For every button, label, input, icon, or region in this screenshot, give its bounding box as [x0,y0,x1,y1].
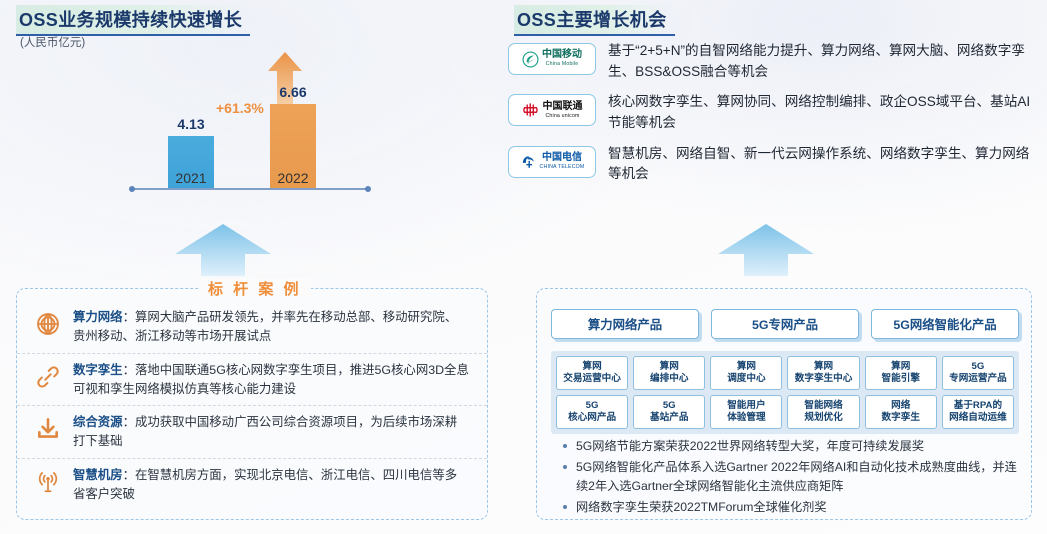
growth-bar-chart: +61.3% 4.13 2021 6.66 2022 [120,46,380,216]
download-icon [33,414,63,444]
product-cell[interactable]: 算网调度中心 [710,356,782,390]
product-cell-line1: 网络 [891,400,910,412]
product-cell-line1: 基于RPA的 [954,400,1002,412]
product-cell[interactable]: 网络数字孪生 [865,395,937,429]
benchmark-cases-panel: 标 杆 案 例 算力网络：算网大脑产品研发领先，并率先在移动总部、移动研究院、贵… [16,288,488,520]
product-category-box[interactable]: 算力网络产品 [551,309,699,339]
product-cell[interactable]: 智能网络规划优化 [787,395,859,429]
china-unicom-logo: 中国联通 China unicom [508,94,596,126]
product-cell-line2: 交易运营中心 [563,373,621,385]
case-term: 智慧机房 [73,468,123,482]
product-cell-line2: 规划优化 [804,412,842,424]
logo-en-text: China Mobile [546,62,579,67]
logo-cn-text: 中国电信 [542,153,582,163]
bar-2022: 6.66 2022 [270,104,316,188]
product-cell-line2: 数字孪生 [882,412,920,424]
china-telecom-logo: 中国电信 CHINA TELECOM [508,146,596,178]
china-telecom-mark-icon [520,153,537,170]
page-title-right: OSS主要增长机会 [514,5,675,36]
product-cell-line1: 算网 [891,361,910,373]
product-cell[interactable]: 算网智能引擎 [865,356,937,390]
logo-cn-text: 中国移动 [542,50,582,60]
up-arrow-right-icon [718,224,814,276]
case-text: 智慧机房：在智慧机房方面，实现北京电信、浙江电信、四川电信等多省客户突破 [73,466,469,504]
bar-value-2021: 4.13 [177,116,204,132]
bar-category-2021: 2021 [175,170,206,186]
product-cell[interactable]: 5G基站产品 [633,395,705,429]
product-category-box[interactable]: 5G网络智能化产品 [871,309,1019,339]
operator-opportunity-text: 智慧机房、网络自智、新一代云网操作系统、网络数字孪生、算力网络等机会 [608,143,1036,185]
list-item[interactable]: 数字孪生：落地中国联通5G核心网数字孪生项目，推进5G核心网3D全息可视和孪生网… [17,353,487,406]
logo-cn-text: 中国联通 [543,102,583,112]
operator-opportunity-list: 中国移动 China Mobile 基于“2+5+N”的自智网络能力提升、算力网… [508,40,1036,194]
product-cell-line2: 数字孪生中心 [795,373,853,385]
product-cell-line2: 调度中心 [727,373,765,385]
china-mobile-logo: 中国移动 China Mobile [508,43,596,75]
product-cell-line2: 智能引擎 [882,373,920,385]
product-cell[interactable]: 5G核心网产品 [556,395,628,429]
bar-value-2022: 6.66 [279,84,306,100]
product-cell-line1: 5G [972,361,985,373]
chart-unit-note: (人民币亿元) [20,34,85,50]
product-cell-line2: 网络自动运维 [949,412,1007,424]
case-text: 算力网络：算网大脑产品研发领先，并率先在移动总部、移动研究院、贵州移动、浙江移动… [73,308,469,346]
case-term: 综合资源 [73,415,123,429]
case-desc: ：算网大脑产品研发领先，并率先在移动总部、移动研究院、贵州移动、浙江移动等市场开… [73,310,457,343]
list-item: 5G网络智能化产品体系入选Gartner 2022年网络AI和自动化技术成熟度曲… [559,458,1019,495]
bar-category-2022: 2022 [277,170,308,186]
product-category-row: 算力网络产品 5G专网产品 5G网络智能化产品 [551,309,1019,339]
antenna-icon [33,467,63,497]
product-cell-line1: 5G [663,400,676,412]
globe-icon [33,309,63,339]
case-term: 算力网络 [73,310,123,324]
bar-2021: 4.13 2021 [168,136,214,188]
list-item[interactable]: 中国电信 CHINA TELECOM 智慧机房、网络自智、新一代云网操作系统、网… [508,143,1036,185]
product-category-box[interactable]: 5G专网产品 [711,309,859,339]
case-desc: ：在智慧机房方面，实现北京电信、浙江电信、四川电信等多省客户突破 [73,468,457,501]
list-item[interactable]: 中国联通 China unicom 核心网数字孪生、算网协同、网络控制编排、政企… [508,91,1036,133]
product-cell-line2: 基站产品 [650,412,688,424]
product-cell-line2: 专网运营产品 [949,373,1007,385]
product-cell[interactable]: 基于RPA的网络自动运维 [942,395,1014,429]
logo-en-text: CHINA TELECOM [540,165,585,170]
product-grid: 算网交易运营中心 算网编排中心 算网调度中心 算网数字孪生中心 算网智能引擎 5… [551,351,1019,434]
product-cell-line1: 5G [586,400,599,412]
innovative-products-panel: 行业领先的创新产品方案 算力网络产品 5G专网产品 5G网络智能化产品 算网交易… [536,288,1032,520]
list-item: 5G网络节能方案荣获2022世界网络转型大奖，年度可持续发展奖 [559,437,1019,455]
case-desc: ：成功获取中国移动广西公司综合资源项目，为后续市场深耕打下基础 [73,415,457,448]
case-term: 数字孪生 [73,363,123,377]
product-cell-line2: 编排中心 [650,373,688,385]
chart-axis-line [132,188,368,190]
benchmark-cases-list: 算力网络：算网大脑产品研发领先，并率先在移动总部、移动研究院、贵州移动、浙江移动… [17,301,487,511]
product-cell-line2: 核心网产品 [568,412,616,424]
page-title-left: OSS业务规模持续快速增长 [16,5,250,36]
list-item[interactable]: 智慧机房：在智慧机房方面，实现北京电信、浙江电信、四川电信等多省客户突破 [17,458,487,511]
product-cell[interactable]: 智能用户体验管理 [710,395,782,429]
case-text: 数字孪生：落地中国联通5G核心网数字孪生项目，推进5G核心网3D全息可视和孪生网… [73,361,469,399]
china-mobile-mark-icon [522,51,539,68]
product-cell-line2: 体验管理 [727,412,765,424]
operator-opportunity-text: 核心网数字孪生、算网协同、网络控制编排、政企OSS域平台、基站AI节能等机会 [608,91,1036,133]
product-cell[interactable]: 算网交易运营中心 [556,356,628,390]
operator-opportunity-text: 基于“2+5+N”的自智网络能力提升、算力网络、算网大脑、网络数字孪生、BSS&… [608,40,1036,82]
product-cell[interactable]: 5G专网运营产品 [942,356,1014,390]
case-text: 综合资源：成功获取中国移动广西公司综合资源项目，为后续市场深耕打下基础 [73,413,469,451]
case-desc: ：落地中国联通5G核心网数字孪生项目，推进5G核心网3D全息可视和孪生网络模拟仿… [73,363,469,396]
product-cell-line1: 算网 [814,361,833,373]
product-cell-line1: 算网 [582,361,601,373]
product-cell-line1: 算网 [660,361,679,373]
link-icon [33,362,63,392]
china-unicom-mark-icon [522,101,540,119]
product-cell-line1: 智能网络 [804,400,842,412]
product-cell[interactable]: 算网编排中心 [633,356,705,390]
product-cell-line1: 算网 [737,361,756,373]
product-cell-line1: 智能用户 [727,400,765,412]
up-arrow-left-icon [175,224,271,276]
product-cell[interactable]: 算网数字孪生中心 [787,356,859,390]
growth-percent-label: +61.3% [216,100,264,116]
slide-canvas: OSS业务规模持续快速增长 (人民币亿元) +61.3% 4.13 2021 6… [0,0,1047,534]
list-item[interactable]: 中国移动 China Mobile 基于“2+5+N”的自智网络能力提升、算力网… [508,40,1036,82]
logo-en-text: China unicom [545,114,579,119]
list-item[interactable]: 综合资源：成功获取中国移动广西公司综合资源项目，为后续市场深耕打下基础 [17,405,487,458]
benchmark-cases-label: 标 杆 案 例 [199,278,311,299]
list-item: 网络数字孪生荣获2022TMForum全球催化剂奖 [559,498,1019,516]
list-item[interactable]: 算力网络：算网大脑产品研发领先，并率先在移动总部、移动研究院、贵州移动、浙江移动… [17,301,487,353]
awards-bullet-list: 5G网络节能方案荣获2022世界网络转型大奖，年度可持续发展奖 5G网络智能化产… [559,437,1019,519]
